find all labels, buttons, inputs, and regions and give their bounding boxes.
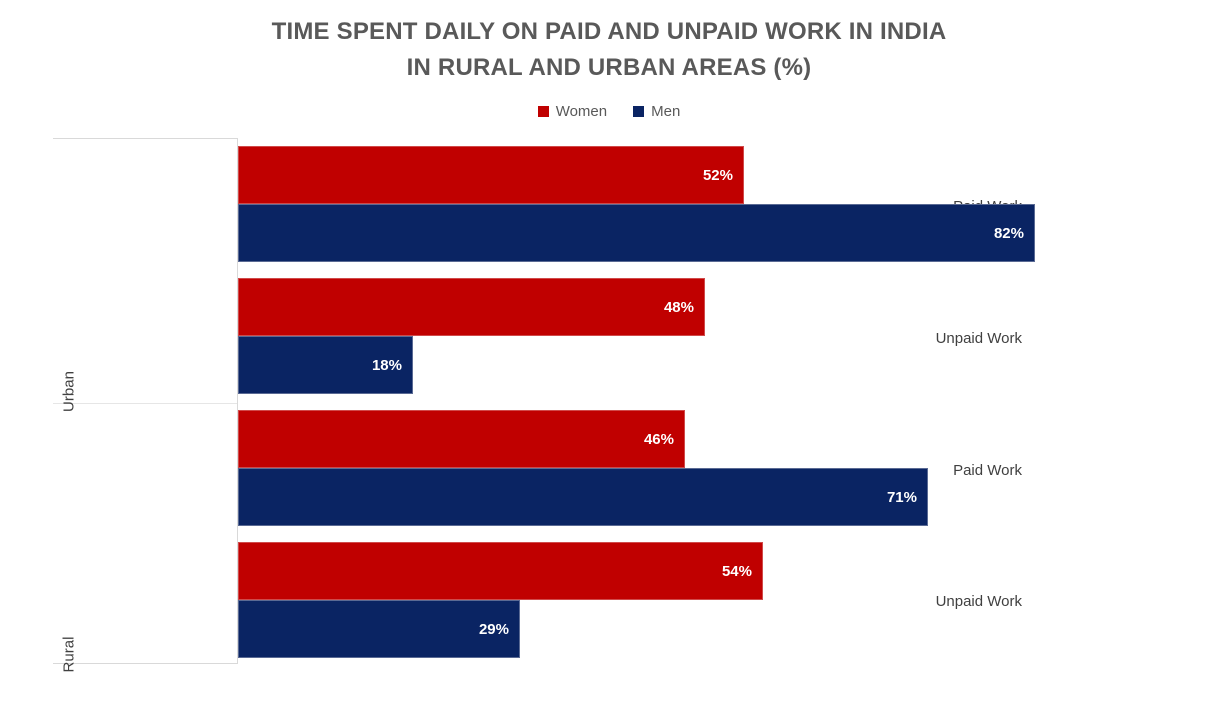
chart-title-line-1: TIME SPENT DAILY ON PAID AND UNPAID WORK… xyxy=(0,14,1218,50)
axis-frame-top-line xyxy=(53,138,237,139)
bar-label-rural-paid-women: 46% xyxy=(644,432,684,447)
bar-rural-unpaid-women[interactable]: 54% xyxy=(238,542,763,600)
bar-label-rural-unpaid-women: 54% xyxy=(722,564,762,579)
bar-rural-paid-women[interactable]: 46% xyxy=(238,410,685,468)
legend-item-men[interactable]: Men xyxy=(633,104,680,119)
axis-frame-bottom-line xyxy=(53,663,237,664)
bar-urban-unpaid-men[interactable]: 18% xyxy=(238,336,413,394)
category-label-urban-unpaid: Unpaid Work xyxy=(802,330,1022,347)
bar-rural-paid-men[interactable]: 71% xyxy=(238,468,928,526)
bar-label-rural-unpaid-men: 29% xyxy=(479,622,519,637)
chart-title: TIME SPENT DAILY ON PAID AND UNPAID WORK… xyxy=(0,14,1218,86)
legend-swatch-men-icon xyxy=(633,106,644,117)
group-label-rural: Rural xyxy=(61,595,78,715)
legend-label-women: Women xyxy=(556,104,607,119)
chart-root: TIME SPENT DAILY ON PAID AND UNPAID WORK… xyxy=(0,0,1218,670)
bar-rural-unpaid-men[interactable]: 29% xyxy=(238,600,520,658)
category-label-rural-unpaid: Unpaid Work xyxy=(802,593,1022,610)
group-label-urban: Urban xyxy=(61,332,78,452)
bar-urban-paid-women[interactable]: 52% xyxy=(238,146,744,204)
legend-label-men: Men xyxy=(651,104,680,119)
plot-area: Urban Rural Paid Work Unpaid Work Paid W… xyxy=(53,138,1038,664)
bar-label-rural-paid-men: 71% xyxy=(887,490,927,505)
chart-legend: Women Men xyxy=(0,104,1218,119)
bar-label-urban-unpaid-men: 18% xyxy=(372,358,412,373)
bar-urban-unpaid-women[interactable]: 48% xyxy=(238,278,705,336)
bar-label-urban-paid-women: 52% xyxy=(703,168,743,183)
bar-label-urban-unpaid-women: 48% xyxy=(664,300,704,315)
axis-group-separator xyxy=(53,403,237,404)
chart-title-line-2: IN RURAL AND URBAN AREAS (%) xyxy=(0,50,1218,86)
bar-label-urban-paid-men: 82% xyxy=(994,226,1034,241)
bar-urban-paid-men[interactable]: 82% xyxy=(238,204,1035,262)
legend-swatch-women-icon xyxy=(538,106,549,117)
legend-item-women[interactable]: Women xyxy=(538,104,607,119)
